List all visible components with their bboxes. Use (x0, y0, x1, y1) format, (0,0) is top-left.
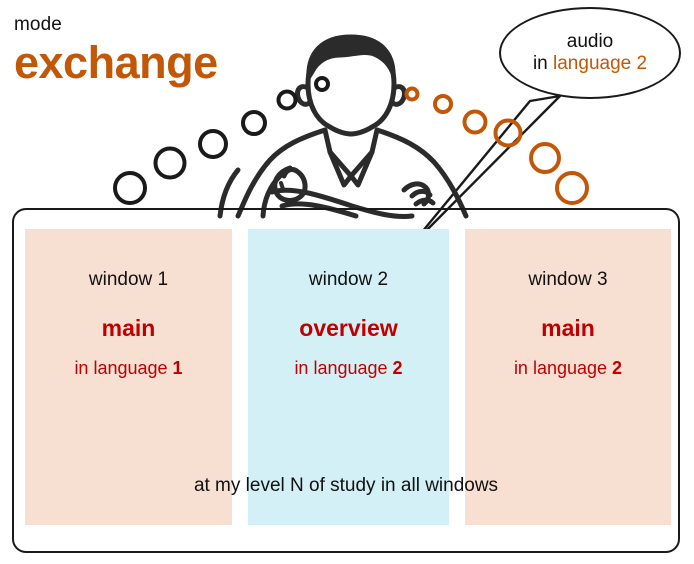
window-3-language-prefix: in language (514, 358, 612, 378)
window-1-role: main (25, 317, 232, 340)
window-3-language: in language 2 (465, 359, 671, 377)
window-2-language-prefix: in language (294, 358, 392, 378)
window-2-role: overview (248, 317, 449, 340)
footer-note: at my level N of study in all windows (14, 475, 678, 497)
windows-container: window 1 main in language 1 window 2 ove… (12, 208, 680, 553)
window-1-title: window 1 (25, 270, 232, 289)
window-2-language-number: 2 (393, 358, 403, 378)
window-3-role: main (465, 317, 671, 340)
speech-bubble-line-2: in language 2 (533, 53, 647, 75)
bubble-circles-right (407, 89, 588, 204)
window-1-language-number: 1 (173, 358, 183, 378)
window-1-language: in language 1 (25, 359, 232, 377)
mode-title: exchange (14, 40, 218, 85)
window-2-title: window 2 (248, 270, 449, 289)
diagram-canvas: mode exchange (0, 0, 694, 564)
window-1-language-prefix: in language (74, 358, 172, 378)
window-3-title: window 3 (465, 270, 671, 289)
window-3-language-number: 2 (612, 358, 622, 378)
window-2-language: in language 2 (248, 359, 449, 377)
person-icon (220, 36, 466, 217)
bubble-circles-left (115, 78, 328, 203)
speech-bubble-prefix: in (533, 53, 553, 74)
speech-bubble-line-1: audio (567, 31, 614, 53)
mode-label: mode (14, 14, 62, 36)
audio-speech-bubble: audio in language 2 (499, 7, 681, 99)
speech-bubble-highlight: language 2 (553, 53, 647, 74)
